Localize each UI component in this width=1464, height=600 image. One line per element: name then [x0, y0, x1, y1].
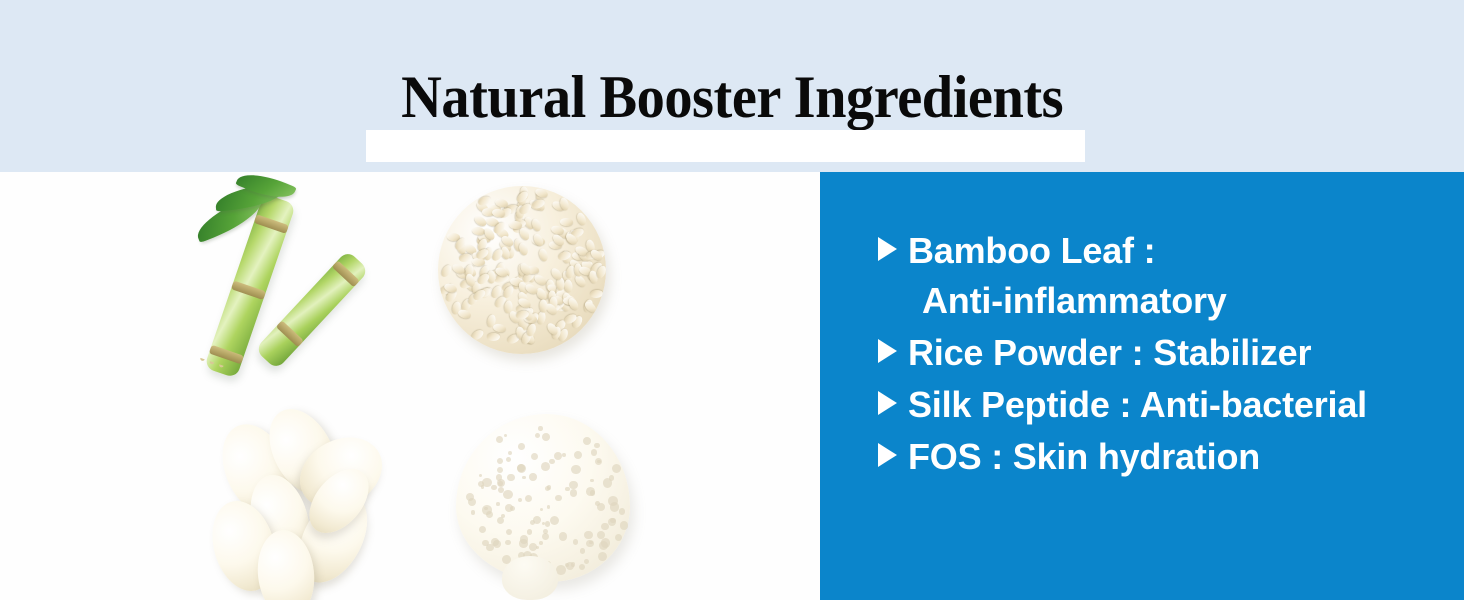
powder-speck	[507, 474, 514, 481]
powder-speck	[539, 541, 543, 545]
benefit-item-line: FOS : Skin hydration	[908, 436, 1260, 477]
rice-grain	[560, 218, 573, 226]
powder-speck	[538, 426, 542, 430]
rice-mound-icon	[438, 186, 606, 354]
powder-speck	[573, 539, 578, 544]
powder-speck	[496, 436, 503, 443]
powder-speck	[545, 521, 551, 527]
powder-speck	[550, 516, 559, 525]
header-banner: Natural Booster Ingredients	[0, 0, 1464, 172]
powder-speck	[529, 473, 536, 480]
powder-speck	[586, 540, 593, 547]
rice-grain	[457, 309, 472, 320]
powder-speck	[504, 434, 507, 437]
rice-grain	[470, 328, 485, 342]
powder-speck	[590, 479, 594, 483]
powder-speck	[536, 546, 539, 549]
ingredient-benefits-panel: Bamboo Leaf :Anti-inflammatoryRice Powde…	[820, 172, 1464, 600]
powder-speck	[584, 531, 592, 539]
powder-speck	[612, 464, 621, 473]
powder-speck	[580, 548, 585, 553]
powder-speck	[571, 465, 580, 474]
powder-speck	[610, 502, 619, 511]
benefit-item-line: Rice Powder : Stabilizer	[908, 332, 1311, 373]
powder-speck	[519, 539, 527, 547]
powder-speck	[541, 462, 550, 471]
powder-speck	[508, 451, 512, 455]
powder-speck	[531, 453, 538, 460]
powder-speck	[562, 453, 566, 457]
powder-speck	[498, 487, 504, 493]
powder-mound-icon	[456, 414, 630, 582]
rice-grains-photo	[432, 180, 612, 360]
powder-speck	[496, 502, 500, 506]
benefit-item-line: Anti-inflammatory	[908, 276, 1227, 326]
powder-speck	[559, 532, 568, 541]
benefit-item-text: Rice Powder : Stabilizer	[908, 328, 1311, 378]
powder-speck	[542, 533, 549, 540]
powder-speck	[497, 458, 503, 464]
rice-grain	[487, 333, 500, 342]
benefit-item-line: Bamboo Leaf :	[908, 230, 1155, 271]
triangle-bullet-icon	[876, 380, 908, 416]
powder-speck	[471, 510, 476, 515]
powder-speck	[479, 474, 483, 478]
powder-speck	[610, 518, 616, 524]
powder-speck	[566, 562, 574, 570]
ingredient-photo-area	[0, 172, 820, 600]
benefit-item-text: FOS : Skin hydration	[908, 432, 1260, 482]
powder-speck	[597, 531, 605, 539]
powder-speck	[545, 486, 550, 491]
powder-speck	[595, 501, 600, 506]
powder-speck	[579, 564, 585, 570]
powder-speck	[601, 538, 610, 547]
powder-speck	[527, 529, 533, 535]
rice-grain	[473, 214, 488, 228]
powder-speck	[540, 508, 544, 512]
triangle-bullet-icon	[876, 328, 908, 364]
powder-speck	[491, 485, 496, 490]
powder-speck	[525, 495, 532, 502]
powder-speck	[598, 552, 607, 561]
powder-speck	[569, 481, 577, 489]
rice-grain	[538, 247, 549, 262]
rice-grain	[458, 253, 472, 263]
bamboo-stalks-photo	[185, 180, 410, 385]
powder-speck	[501, 514, 505, 518]
powder-speck	[533, 516, 541, 524]
powder-speck	[603, 478, 612, 487]
fos-powder-photo	[450, 408, 640, 598]
rice-grain-cluster	[438, 186, 606, 354]
page-title-text: Natural Booster Ingredients	[401, 67, 1063, 127]
benefit-item: Silk Peptide : Anti-bacterial	[876, 380, 1456, 430]
powder-speck	[503, 490, 512, 499]
benefit-item: Rice Powder : Stabilizer	[876, 328, 1456, 378]
powder-speck	[497, 467, 503, 473]
powder-speck	[601, 523, 609, 531]
powder-speck	[615, 534, 622, 541]
benefit-item-text: Bamboo Leaf :Anti-inflammatory	[908, 226, 1227, 326]
triangle-bullet-icon	[876, 226, 908, 262]
benefit-item: Bamboo Leaf :Anti-inflammatory	[876, 226, 1456, 326]
powder-speck	[565, 487, 570, 492]
benefits-list: Bamboo Leaf :Anti-inflammatoryRice Powde…	[876, 226, 1456, 484]
powder-speck	[486, 511, 493, 518]
powder-speck	[510, 506, 515, 511]
powder-speck	[542, 433, 550, 441]
page-title: Natural Booster Ingredients	[0, 0, 1464, 172]
rice-grain	[518, 242, 530, 257]
powder-speck	[591, 449, 597, 455]
rice-grain	[575, 212, 587, 227]
powder-speck	[506, 457, 511, 462]
slide-root: Natural Booster Ingredients	[0, 0, 1464, 600]
powder-speck	[620, 521, 629, 530]
benefit-item: FOS : Skin hydration	[876, 432, 1456, 482]
powder-speck	[619, 508, 625, 514]
powder-speck	[506, 529, 512, 535]
powder-speck	[522, 476, 525, 479]
powder-speck	[549, 459, 555, 465]
powder-speck	[570, 489, 577, 496]
benefit-item-line: Silk Peptide : Anti-bacterial	[908, 384, 1367, 425]
powder-speck	[481, 485, 485, 489]
powder-drip-icon	[502, 556, 558, 600]
powder-speck	[556, 565, 566, 575]
rice-grain	[530, 218, 542, 233]
powder-speck	[479, 526, 486, 533]
powder-speck	[518, 498, 522, 502]
powder-speck	[518, 443, 525, 450]
powder-speck	[594, 443, 600, 449]
powder-speck	[547, 505, 551, 509]
powder-speck	[505, 540, 511, 546]
powder-speck	[555, 495, 561, 501]
silk-cocoons-photo	[212, 404, 392, 590]
powder-speck	[535, 433, 540, 438]
rice-grain	[539, 300, 547, 313]
powder-speck	[493, 540, 501, 548]
rice-grain	[589, 289, 603, 298]
powder-speck	[574, 451, 583, 460]
powder-speck	[484, 507, 488, 511]
rice-grain	[583, 300, 598, 315]
powder-speck	[583, 437, 591, 445]
benefit-item-text: Silk Peptide : Anti-bacterial	[908, 380, 1367, 430]
rice-grain	[439, 263, 453, 278]
triangle-bullet-icon	[876, 432, 908, 468]
powder-speck	[584, 559, 589, 564]
powder-speck	[554, 452, 562, 460]
